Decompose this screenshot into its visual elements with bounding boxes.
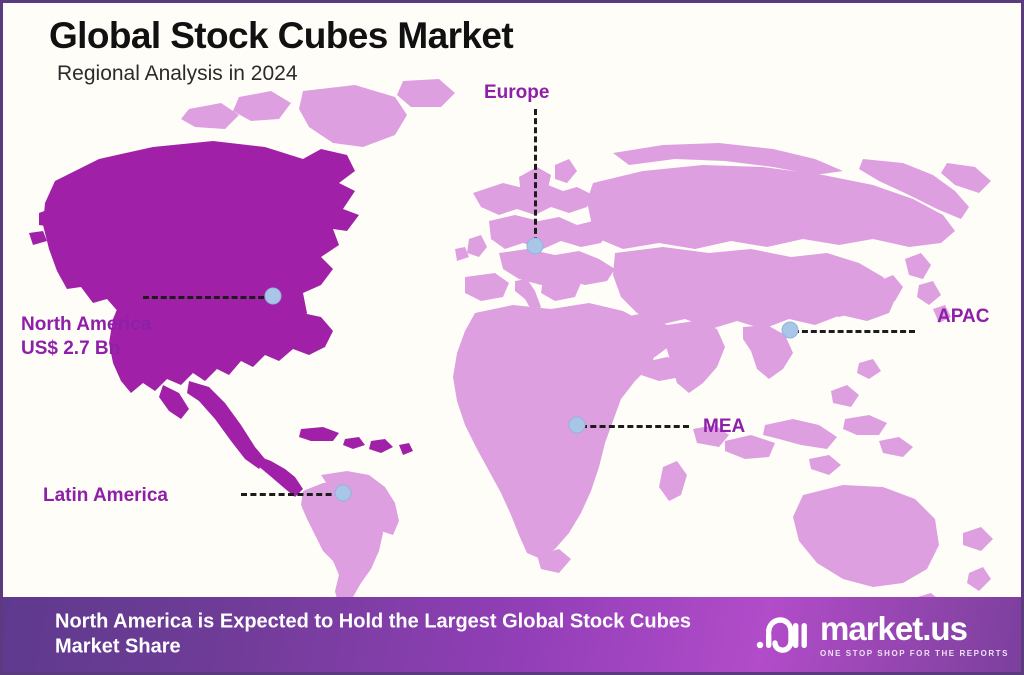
page-title: Global Stock Cubes Market	[49, 17, 513, 56]
logo-name: market.us	[820, 612, 1009, 645]
map-marker-apac[interactable]	[782, 322, 799, 339]
region-label-latin-america: Latin America	[43, 484, 168, 508]
market-us-logo[interactable]: market.us ONE STOP SHOP FOR THE REPORTS	[755, 612, 1009, 658]
region-name-latin-america: Latin America	[43, 485, 168, 506]
map-marker-europe[interactable]	[527, 238, 544, 255]
map-marker-north-america[interactable]	[265, 288, 282, 305]
map-marker-mea[interactable]	[569, 417, 586, 434]
page-subtitle: Regional Analysis in 2024	[57, 62, 513, 85]
infographic-canvas: Global Stock Cubes Market Regional Analy…	[0, 0, 1024, 675]
region-label-apac: APAC	[937, 305, 989, 329]
region-label-north-america: North America US$ 2.7 Bn	[21, 313, 151, 361]
logo-text-block: market.us ONE STOP SHOP FOR THE REPORTS	[820, 612, 1009, 658]
footer-banner: North America is Expected to Hold the La…	[3, 597, 1024, 672]
region-value-north-america: US$ 2.7 Bn	[21, 337, 151, 361]
logo-tagline: ONE STOP SHOP FOR THE REPORTS	[820, 649, 1009, 658]
region-name-mea: MEA	[703, 416, 745, 437]
map-marker-latin-america[interactable]	[335, 485, 352, 502]
region-label-mea: MEA	[703, 415, 745, 439]
footer-callout-text: North America is Expected to Hold the La…	[55, 609, 715, 660]
annotation-layer: North America US$ 2.7 Bn Latin America E…	[3, 3, 1024, 608]
region-name-apac: APAC	[937, 306, 989, 327]
leader-line-north-america	[143, 296, 273, 299]
header: Global Stock Cubes Market Regional Analy…	[49, 17, 513, 85]
leader-line-latin-america	[241, 493, 341, 496]
leader-line-apac	[793, 330, 915, 333]
leader-line-europe	[534, 109, 537, 243]
market-us-monogram-icon	[755, 615, 811, 655]
region-name-europe: Europe	[484, 82, 549, 103]
leader-line-mea	[581, 425, 689, 428]
region-name-north-america: North America	[21, 314, 151, 335]
